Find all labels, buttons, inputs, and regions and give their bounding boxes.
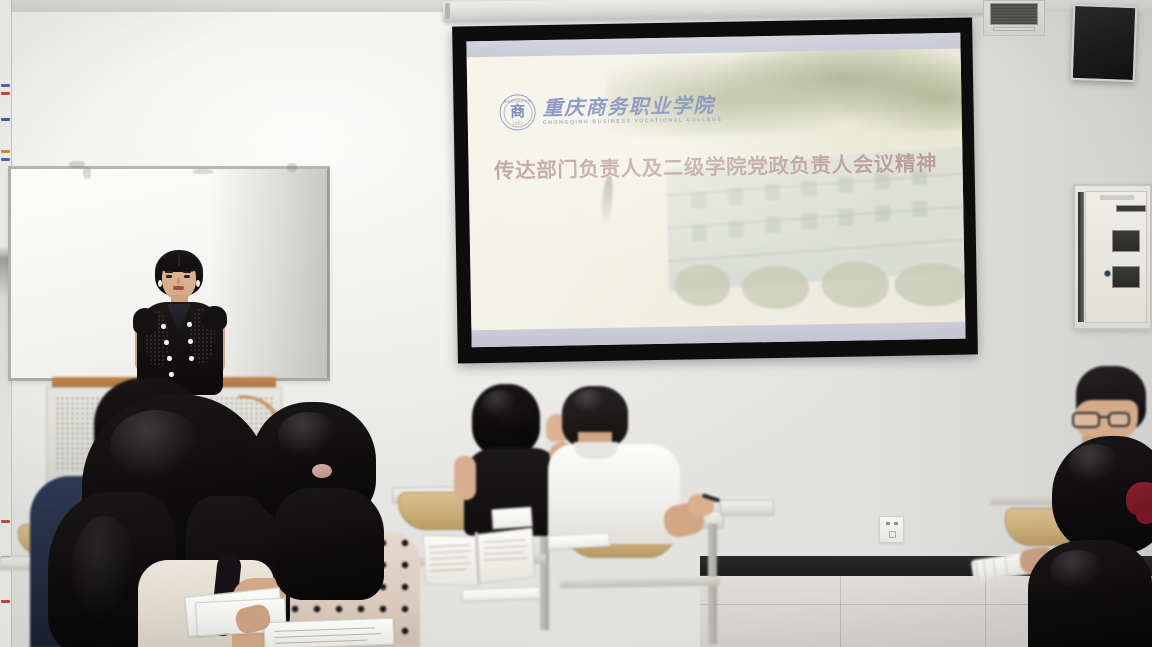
shoulder-skin <box>454 456 476 500</box>
whiteboard-smudge <box>69 161 85 168</box>
pearl-button <box>189 356 194 361</box>
panel-hinge <box>1078 192 1084 322</box>
presenter-sleeve-left <box>133 308 157 334</box>
audience-member-white-polo <box>548 386 698 546</box>
polo-collar <box>574 442 618 458</box>
audience-member-far-right <box>1028 540 1152 647</box>
classroom-photo: 重庆商务职业学院 商 1962 重庆商务职业学院 CHONGQING BUSIN… <box>0 0 1152 647</box>
audience-member-ponytail-foreground <box>228 402 396 602</box>
eyeglasses-lens <box>1108 412 1130 427</box>
presenter-hair-part <box>178 255 180 266</box>
college-name-cn: 重庆商务职业学院 <box>542 95 722 118</box>
whiteboard-smudge <box>83 167 91 179</box>
hair-tie <box>312 464 332 478</box>
poster-mark <box>1 92 10 95</box>
presenter-eyebrow <box>165 271 173 273</box>
projection-screen: 重庆商务职业学院 商 1962 重庆商务职业学院 CHONGQING BUSIN… <box>452 17 978 363</box>
open-textbook <box>423 527 536 589</box>
outlet-pin <box>886 522 890 525</box>
building-window <box>802 213 818 230</box>
roll-line <box>983 560 986 578</box>
tile-seam <box>840 576 841 647</box>
presenter-earring <box>196 280 200 287</box>
building-window <box>692 225 708 242</box>
hair-highlight <box>72 516 136 626</box>
panel-meter-window <box>1116 205 1146 212</box>
building-window <box>912 201 928 218</box>
building-window <box>728 188 744 205</box>
screen-smudge <box>600 175 614 228</box>
notebook-line <box>275 633 381 638</box>
outlet-socket <box>889 531 896 538</box>
building-window <box>875 205 891 222</box>
shrub <box>741 265 809 309</box>
poster-mark <box>1 118 10 121</box>
hair-highlight <box>110 410 202 482</box>
presenter-eyebrow <box>183 271 191 273</box>
pearl-button <box>169 372 174 377</box>
roller-cap <box>445 3 450 19</box>
electrical-panel[interactable] <box>1073 184 1152 330</box>
slide-body: 重庆商务职业学院 商 1962 重庆商务职业学院 CHONGQING BUSIN… <box>467 49 966 331</box>
ponytail <box>274 488 384 600</box>
roll-line <box>975 562 978 580</box>
hair-highlight <box>574 390 606 414</box>
hair-highlight <box>482 390 518 420</box>
hair-scrunchie-fold <box>1136 508 1152 524</box>
poster-mark <box>1 150 10 153</box>
notebook-line <box>275 640 367 644</box>
hair-highlight <box>278 412 338 458</box>
roll-line <box>993 559 996 577</box>
white-polo <box>548 444 680 544</box>
building-window <box>728 221 744 238</box>
presenter-earring <box>158 280 162 287</box>
pearl-button <box>187 322 192 327</box>
pearl-button <box>188 339 193 344</box>
tile-seam <box>985 576 986 647</box>
presenter <box>131 250 227 395</box>
building-window <box>838 209 854 226</box>
pearl-button <box>167 356 172 361</box>
building-window <box>765 217 781 234</box>
student-desk <box>720 500 774 516</box>
ac-vent <box>993 27 1035 31</box>
poster-mark <box>1 520 10 523</box>
screen-surface: 重庆商务职业学院 商 1962 重庆商务职业学院 CHONGQING BUSIN… <box>466 33 965 348</box>
whiteboard-smudge <box>193 169 213 174</box>
roll-line <box>1005 557 1008 575</box>
pearl-button <box>161 324 166 329</box>
poster-mark <box>1 84 10 87</box>
presenter-eye <box>184 275 190 278</box>
loose-paper <box>491 507 532 530</box>
presenter-eye <box>166 275 172 278</box>
presenter-sleeve-right <box>202 306 227 330</box>
emblem-year: 1962 <box>500 120 536 126</box>
panel-breaker-slot[interactable] <box>1112 266 1140 288</box>
building-window <box>691 192 707 209</box>
shrub <box>895 263 966 307</box>
whiteboard-shadow <box>209 169 329 378</box>
panel-lock[interactable] <box>1104 270 1111 277</box>
wall-outlet[interactable] <box>879 516 904 543</box>
panel-door[interactable] <box>1085 191 1147 323</box>
pearl-button <box>164 340 169 345</box>
hair-highlight <box>1050 550 1104 590</box>
panel-tag <box>1100 195 1134 200</box>
wall-speaker <box>1071 4 1138 82</box>
poster-mark <box>1 158 10 161</box>
open-notebook <box>264 618 395 647</box>
poster-mark <box>1 600 10 603</box>
whiteboard-smudge <box>287 163 297 172</box>
college-emblem-icon: 重庆商务职业学院 商 1962 <box>499 94 536 131</box>
college-name-group: 重庆商务职业学院 CHONGQING BUSINESS VOCATIONAL C… <box>542 95 722 127</box>
building-window <box>764 184 780 201</box>
building-window <box>801 180 817 197</box>
panel-breaker-slot[interactable] <box>1112 230 1140 252</box>
building-window <box>838 176 854 193</box>
shrub <box>821 261 889 308</box>
notebook-line <box>275 627 375 631</box>
book-page-left <box>423 535 480 587</box>
eyeglasses-lens <box>1072 412 1100 428</box>
shrub <box>674 263 730 307</box>
ac-grille <box>990 3 1038 25</box>
air-conditioner <box>983 0 1045 36</box>
presenter-nose <box>177 278 180 284</box>
hair-highlight <box>1068 444 1120 484</box>
presenter-mouth <box>173 286 184 290</box>
outlet-pin <box>894 522 898 525</box>
book-page-right <box>477 527 535 584</box>
college-logo-block: 重庆商务职业学院 商 1962 重庆商务职业学院 CHONGQING BUSIN… <box>499 91 722 131</box>
